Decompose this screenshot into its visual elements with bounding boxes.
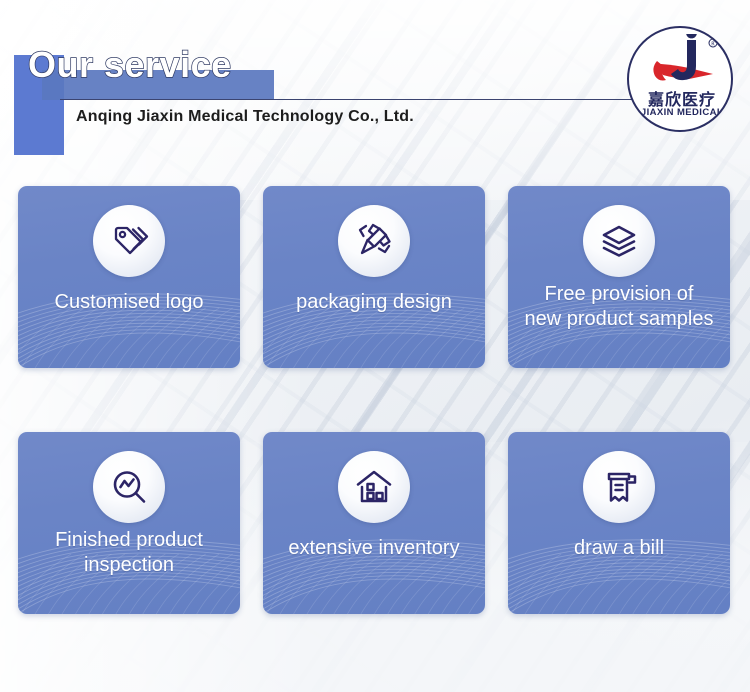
card-wave-decoration: [263, 264, 485, 368]
search-chart-icon: [109, 467, 149, 507]
pen-tool-icon: [354, 221, 394, 261]
company-name: Anqing Jiaxin Medical Technology Co., Lt…: [76, 108, 414, 126]
service-card-label-line: Free provision of: [516, 282, 722, 307]
logo-english-text: JIAXIN MEDICAL: [629, 107, 733, 118]
service-card[interactable]: draw a bill: [508, 432, 730, 614]
warehouse-icon: [353, 466, 395, 508]
svg-text:R: R: [711, 42, 715, 48]
service-card[interactable]: Customised logo: [18, 186, 240, 368]
service-card-icon-circle: [93, 451, 165, 523]
service-card-icon-circle: [583, 451, 655, 523]
service-card-grid: Customised logo packaging design Free pr…: [18, 186, 732, 614]
service-card-label-line: new product samples: [516, 307, 722, 332]
page-title: Our service: [28, 44, 232, 86]
service-card-label: Finished productinspection: [26, 528, 232, 578]
service-card-label-line: Customised logo: [26, 290, 232, 315]
service-card-icon-circle: [93, 205, 165, 277]
service-card-label-line: Finished product: [26, 528, 232, 553]
layers-icon: [598, 220, 640, 262]
title-divider-rule: [60, 99, 640, 100]
card-wave-decoration: [18, 264, 240, 368]
service-card-label: extensive inventory: [271, 536, 477, 561]
service-card-icon-circle: [338, 205, 410, 277]
logo-mark-icon: R: [629, 34, 733, 92]
tags-icon: [109, 221, 149, 261]
service-card-label-line: packaging design: [271, 290, 477, 315]
service-card-label-line: draw a bill: [516, 536, 722, 561]
card-wave-decoration: [263, 510, 485, 614]
service-card[interactable]: extensive inventory: [263, 432, 485, 614]
service-card-label: draw a bill: [516, 536, 722, 561]
service-card[interactable]: Free provision ofnew product samples: [508, 186, 730, 368]
receipt-icon: [599, 467, 639, 507]
service-card-icon-circle: [338, 451, 410, 523]
service-card-label: Customised logo: [26, 290, 232, 315]
service-card-label-line: inspection: [26, 553, 232, 578]
service-card-label-line: extensive inventory: [271, 536, 477, 561]
service-card-icon-circle: [583, 205, 655, 277]
page-header: Our service Anqing Jiaxin Medical Techno…: [0, 0, 750, 172]
service-card[interactable]: packaging design: [263, 186, 485, 368]
card-wave-decoration: [508, 510, 730, 614]
service-card[interactable]: Finished productinspection: [18, 432, 240, 614]
service-card-label: Free provision ofnew product samples: [516, 282, 722, 332]
company-logo-badge: R 嘉欣医疗 JIAXIN MEDICAL: [627, 26, 733, 132]
service-card-label: packaging design: [271, 290, 477, 315]
